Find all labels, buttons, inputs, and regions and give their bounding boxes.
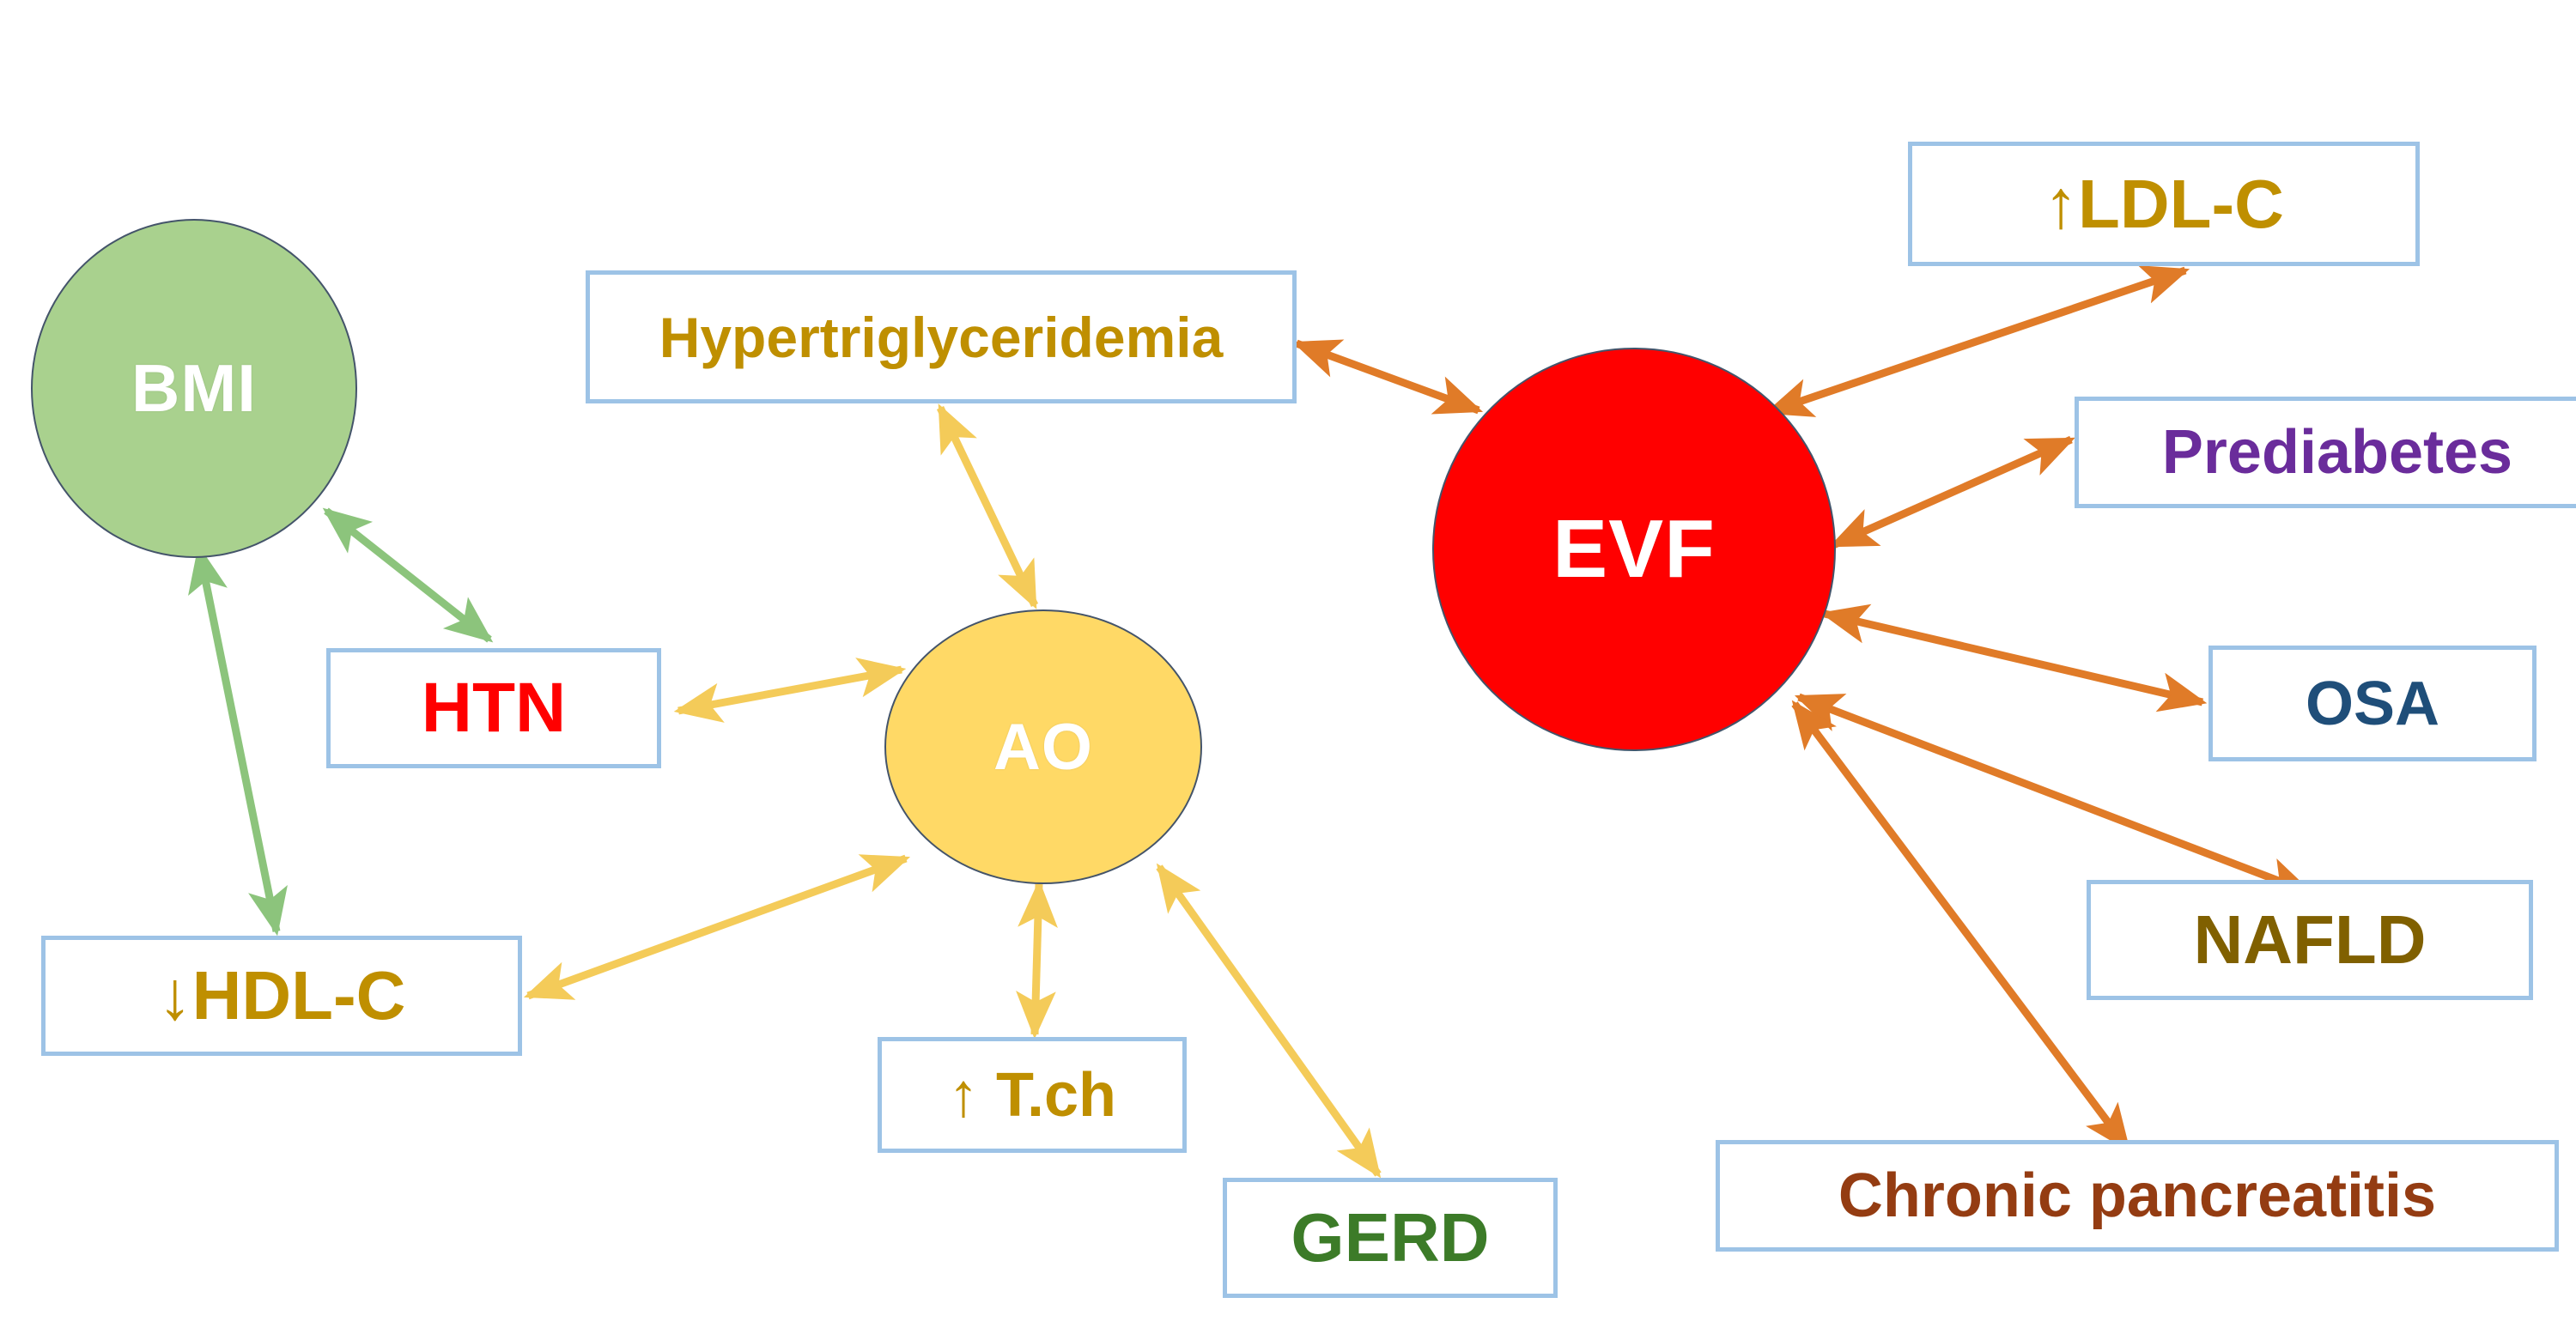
node-nafld-label: NAFLD: [2193, 900, 2426, 979]
diagram-canvas: BMI AO EVF HTN ↓HDL-C Hypertriglyceridem…: [0, 0, 2576, 1340]
node-ao-label: AO: [993, 710, 1093, 785]
edge-evf-ldl: [1769, 270, 2185, 412]
node-htn[interactable]: HTN: [326, 648, 661, 768]
node-gerd-label: GERD: [1291, 1198, 1489, 1277]
edge-ao-tch: [1035, 884, 1039, 1034]
edge-evf-pred: [1833, 440, 2071, 545]
node-evf-label: EVF: [1552, 502, 1716, 597]
node-hdl-label: ↓HDL-C: [158, 956, 406, 1035]
edge-evf-htg: [1297, 343, 1479, 410]
node-hypertriglyceridemia-label: Hypertriglyceridemia: [659, 305, 1224, 370]
node-prediabetes[interactable]: Prediabetes: [2075, 397, 2576, 508]
node-tch[interactable]: ↑ T.ch: [878, 1037, 1187, 1153]
node-nafld[interactable]: NAFLD: [2087, 880, 2533, 1000]
edge-evf-cp: [1795, 704, 2128, 1149]
edge-ao-hdl: [528, 858, 906, 996]
edge-ao-htg: [940, 408, 1035, 605]
node-bmi-label: BMI: [131, 349, 257, 427]
node-osa[interactable]: OSA: [2208, 646, 2537, 761]
node-hdl[interactable]: ↓HDL-C: [41, 936, 522, 1056]
edge-ao-htn: [678, 670, 902, 711]
node-ao[interactable]: AO: [884, 609, 1202, 884]
node-chronic-pancreatitis[interactable]: Chronic pancreatitis: [1716, 1140, 2559, 1252]
edge-ao-gerd: [1159, 867, 1378, 1174]
node-tch-label: ↑ T.ch: [948, 1060, 1116, 1131]
node-chronic-pancreatitis-label: Chronic pancreatitis: [1838, 1161, 2436, 1231]
node-ldl[interactable]: ↑LDL-C: [1908, 142, 2420, 266]
node-hypertriglyceridemia[interactable]: Hypertriglyceridemia: [586, 270, 1297, 403]
node-gerd[interactable]: GERD: [1223, 1178, 1558, 1298]
edge-bmi-hdl: [199, 549, 276, 931]
node-ldl-label: ↑LDL-C: [2044, 165, 2284, 244]
node-prediabetes-label: Prediabetes: [2162, 417, 2512, 488]
edge-bmi-htn: [326, 511, 489, 640]
edge-evf-osa: [1825, 614, 2202, 702]
node-evf[interactable]: EVF: [1432, 348, 1836, 751]
node-bmi[interactable]: BMI: [31, 219, 357, 558]
node-htn-label: HTN: [422, 668, 567, 749]
node-osa-label: OSA: [2306, 669, 2439, 739]
